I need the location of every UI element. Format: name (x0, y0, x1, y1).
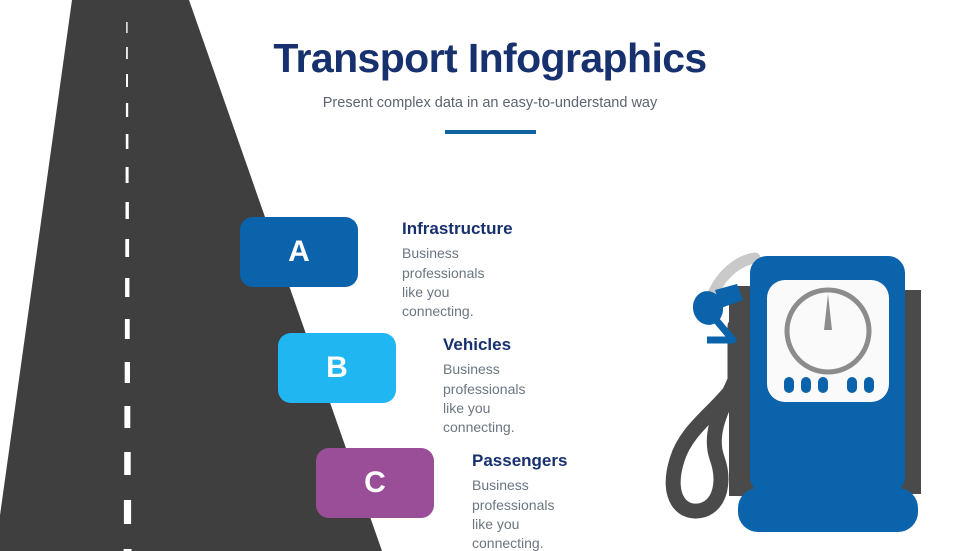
step-heading-c: Passengers (472, 450, 567, 471)
page-subtitle: Present complex data in an easy-to-under… (250, 95, 730, 112)
step-text-b: Vehicles Business professionals like you… (443, 334, 525, 438)
step-badge-letter-a: A (288, 237, 310, 267)
step-heading-b: Vehicles (443, 334, 525, 355)
step-badge-letter-b: B (326, 353, 348, 383)
step-badge-b[interactable]: B (278, 333, 396, 403)
step-heading-a: Infrastructure (402, 218, 513, 239)
fuel-pump-icon (655, 248, 935, 538)
accent-bar (445, 130, 536, 134)
page-title: Transport Infographics (250, 36, 730, 81)
step-text-c: Passengers Business professionals like y… (472, 450, 567, 551)
step-body-a: Business professionals like you connecti… (402, 244, 513, 321)
step-badge-c[interactable]: C (316, 448, 434, 518)
step-body-b: Business professionals like you connecti… (443, 360, 525, 437)
step-badge-letter-c: C (364, 468, 386, 498)
infographic-slide: Transport Infographics Present complex d… (0, 0, 980, 551)
step-text-a: Infrastructure Business professionals li… (402, 218, 513, 322)
header-block: Transport Infographics Present complex d… (250, 36, 730, 134)
step-badge-a[interactable]: A (240, 217, 358, 287)
pump-base (738, 488, 918, 532)
step-body-c: Business professionals like you connecti… (472, 476, 567, 551)
